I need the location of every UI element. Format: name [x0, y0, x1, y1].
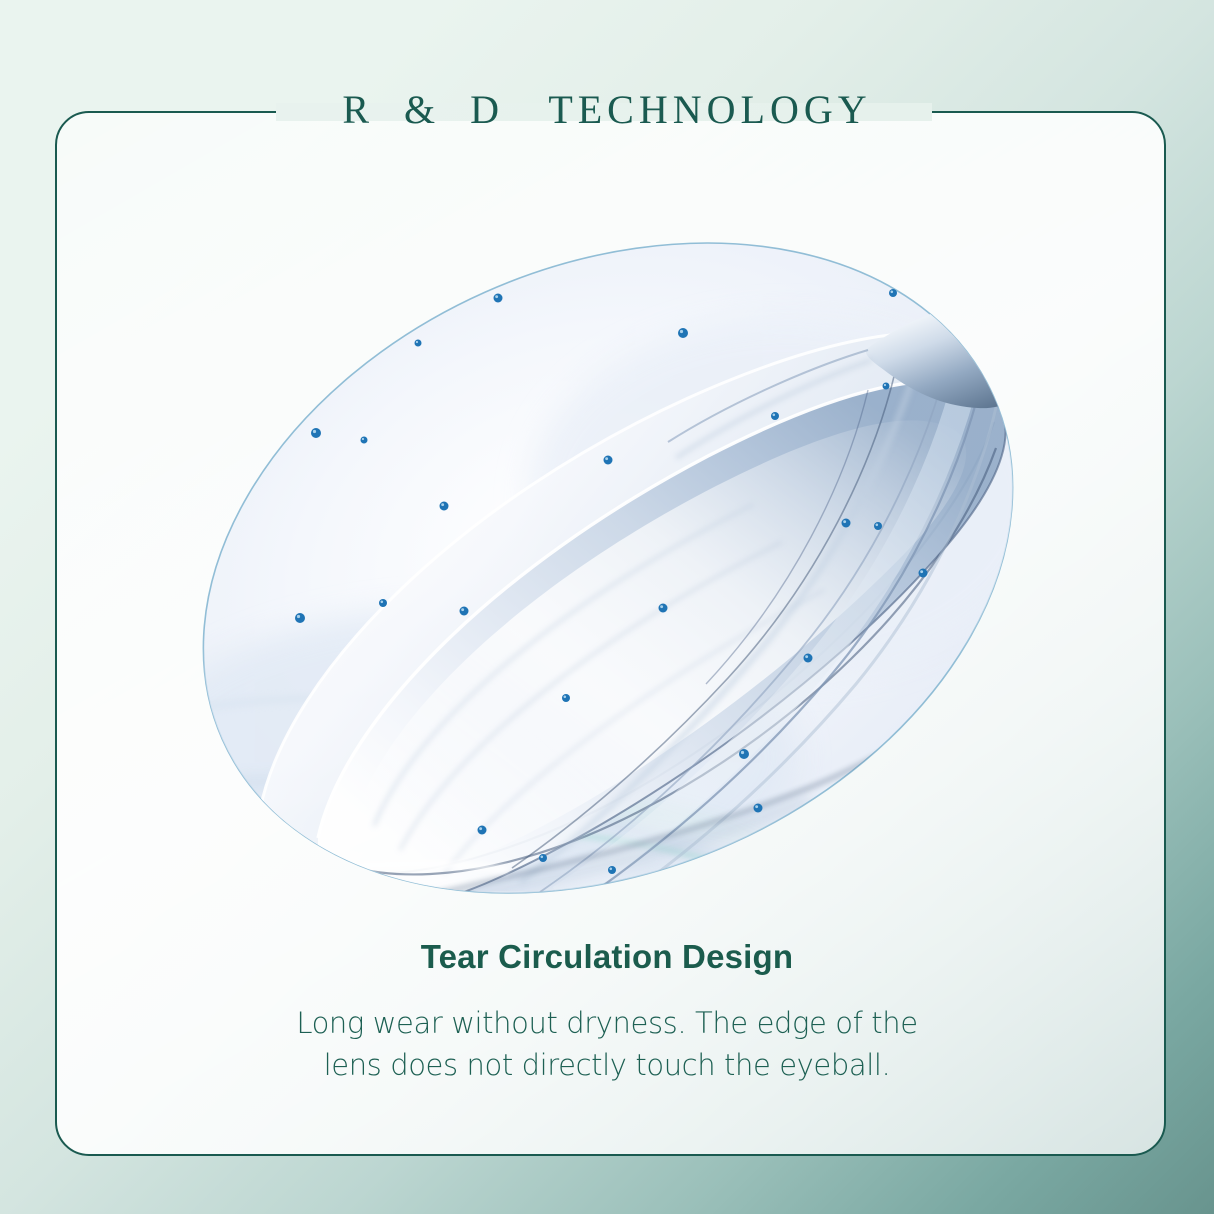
bubble-dot-highlight — [755, 805, 758, 808]
bubble-dot-highlight — [313, 430, 316, 433]
bubble-dot-highlight — [876, 524, 879, 527]
bubble-dot — [478, 826, 487, 835]
poster-root: R & D TECHNOLOGY — [0, 0, 1214, 1214]
page-title: R & D TECHNOLOGY — [0, 86, 1214, 133]
bubble-dot-highlight — [920, 570, 923, 573]
bubble-dot-highlight — [251, 467, 254, 470]
bubble-dot — [659, 604, 668, 613]
bubble-dot — [678, 328, 688, 338]
bubble-dot — [874, 522, 882, 530]
bubble-dot — [460, 607, 469, 616]
bubble-dot — [771, 412, 779, 420]
bubble-dot-highlight — [416, 341, 418, 343]
bubble-dot — [604, 456, 613, 465]
feature-description: Long wear without dryness. The edge of t… — [257, 1002, 957, 1086]
bubble-dot-highlight — [495, 295, 498, 298]
bubble-dot-highlight — [441, 503, 444, 506]
bubble-dot — [250, 466, 259, 475]
bubble-dot-highlight — [610, 868, 613, 871]
bubble-dot — [608, 866, 616, 874]
bubble-dot — [295, 613, 305, 623]
description-line-2: lens does not directly touch the eyeball… — [324, 1048, 891, 1082]
bubble-dot — [361, 437, 368, 444]
bubble-dot-highlight — [773, 414, 776, 417]
bubble-dot — [562, 694, 570, 702]
contact-lens-hydration-illustration — [168, 198, 1048, 938]
bubble-dot — [539, 854, 547, 862]
description-line-1: Long wear without dryness. The edge of t… — [296, 1006, 917, 1040]
bubble-dot — [494, 294, 503, 303]
bubble-dot-highlight — [680, 330, 683, 333]
bubble-dot-highlight — [381, 601, 384, 604]
bubble-dot — [379, 599, 387, 607]
bubble-dot-highlight — [843, 520, 846, 523]
bubble-dot — [919, 569, 928, 578]
bubble-dot — [842, 519, 851, 528]
bubble-dot-highlight — [541, 856, 544, 859]
bubble-dot-highlight — [605, 457, 608, 460]
bubble-dot-highlight — [564, 696, 567, 699]
feature-headline: Tear Circulation Design — [0, 938, 1214, 976]
bubble-dot — [415, 340, 422, 347]
bubble-dot — [883, 383, 890, 390]
bubble-dot — [804, 654, 813, 663]
bubble-dot-highlight — [362, 438, 364, 440]
bubble-dot — [739, 749, 749, 759]
bubble-dot-highlight — [461, 608, 464, 611]
bubble-dot — [654, 874, 663, 883]
bubble-dot — [311, 428, 321, 438]
bubble-dot-highlight — [805, 655, 808, 658]
bubble-dot — [440, 502, 449, 511]
bubble-dot — [754, 804, 763, 813]
bubble-dot-highlight — [660, 605, 663, 608]
bubble-dot-highlight — [741, 751, 744, 754]
bubble-dot-highlight — [884, 384, 886, 386]
bubble-dot-highlight — [655, 875, 658, 878]
bubble-dot-highlight — [891, 291, 894, 294]
bubble-dot-highlight — [297, 615, 300, 618]
bubble-dot-highlight — [479, 827, 482, 830]
bubble-dot — [889, 289, 897, 297]
